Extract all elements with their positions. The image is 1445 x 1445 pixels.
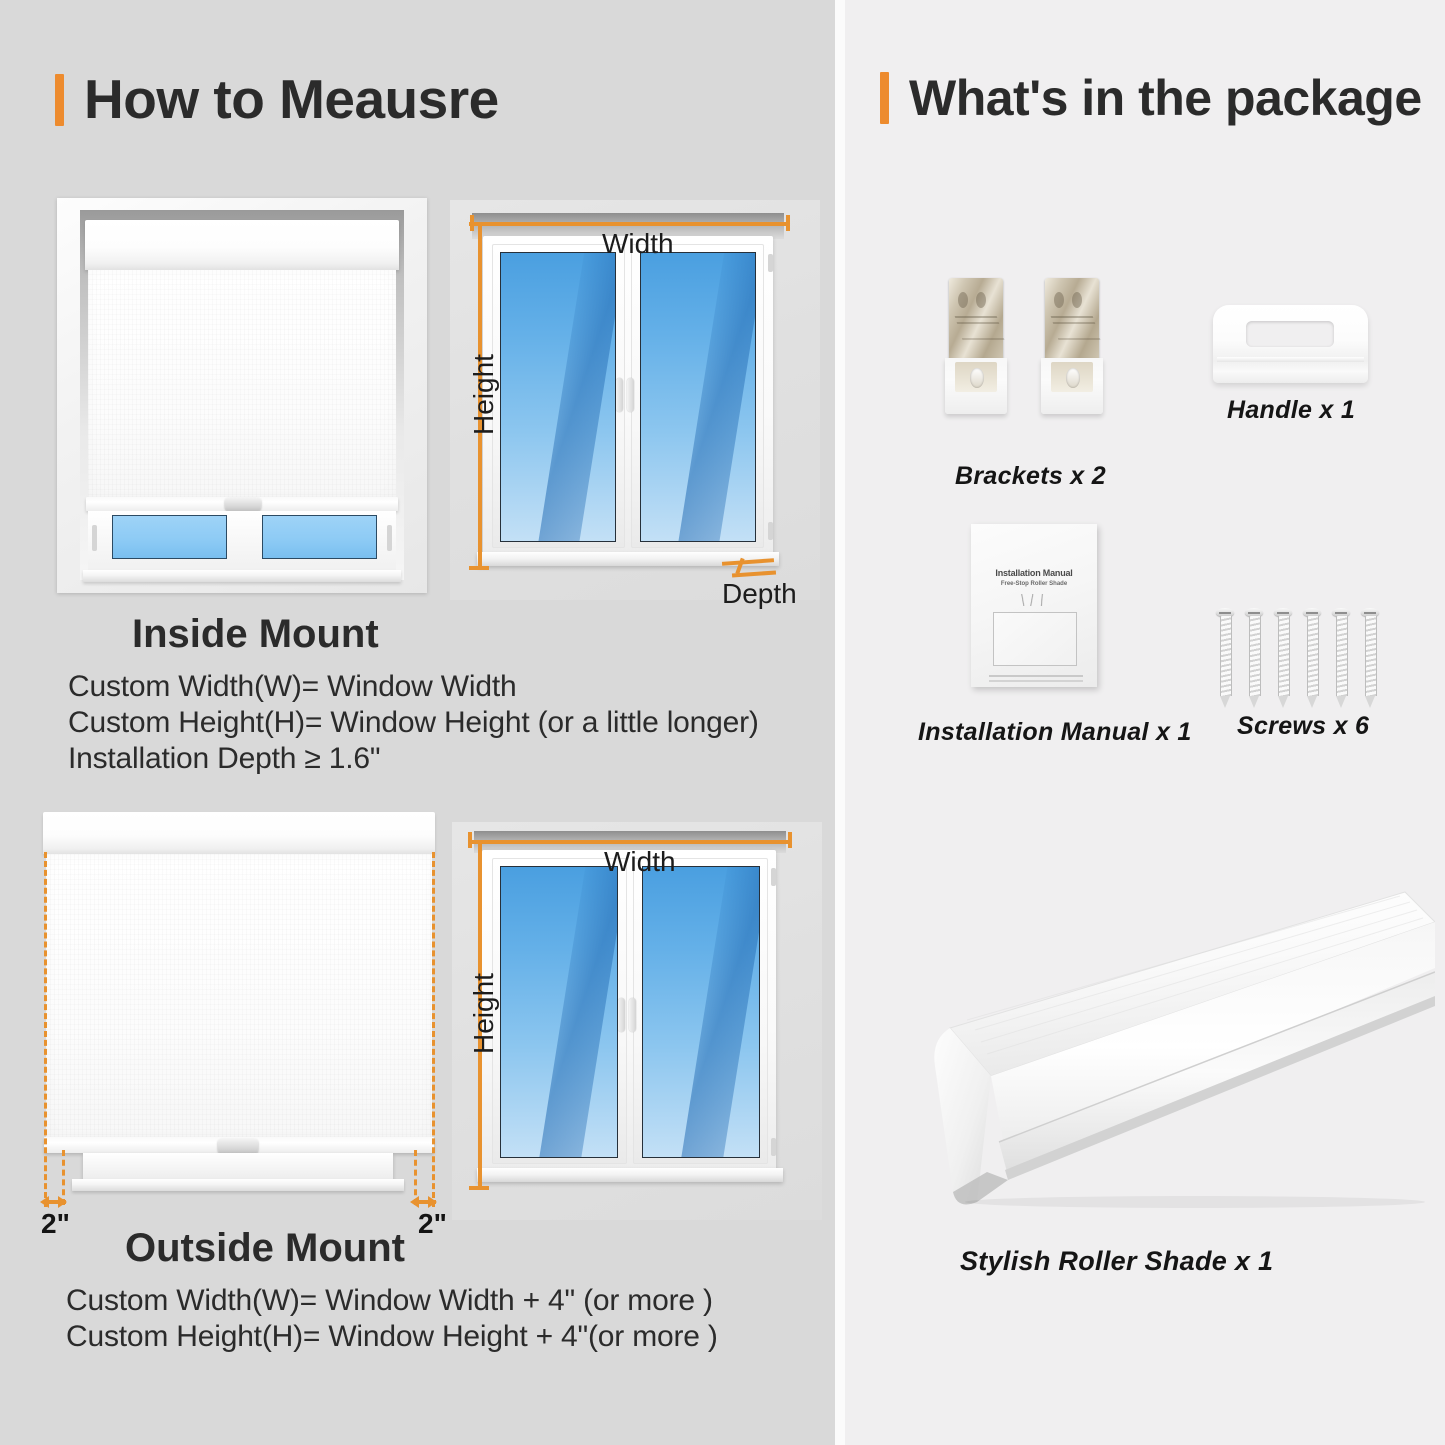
inside-mount-line-2: Custom Height(H)= Window Height (or a li… (68, 706, 759, 740)
screw-thread (1278, 616, 1290, 696)
manual-cover-footer (989, 675, 1083, 677)
bracket-screw-hole (970, 368, 984, 388)
inside-mount-line-3: Installation Depth ≥ 1.6" (68, 742, 380, 776)
sash-hinge-right (387, 525, 392, 551)
wall-anchor-icon (1331, 528, 1351, 592)
brackets-label: Brackets x 2 (955, 462, 1106, 491)
screw-icon (1303, 608, 1321, 708)
wall-anchor-icon (1360, 528, 1380, 592)
height-measure-tick-bottom (469, 566, 489, 570)
window-pane-left-2 (500, 866, 618, 1158)
width-measure-line (470, 222, 790, 226)
accent-bar-icon (55, 74, 64, 126)
outside-shade-cassette (43, 812, 435, 854)
overhang-guide-right (432, 852, 435, 1207)
shade-cassette (85, 220, 399, 270)
manual-cover-figure (993, 612, 1077, 666)
overhang-arrow-head-right (428, 1196, 437, 1208)
bracket-icon (945, 278, 1007, 414)
screw-tip (1220, 696, 1230, 708)
screw-tip (1278, 696, 1288, 708)
width-measure-tick-right (786, 215, 790, 231)
infographic-page: How to Meausre (0, 0, 1445, 1445)
roller-shade-svg (895, 880, 1435, 1210)
screw-tip (1249, 696, 1259, 708)
wall-anchor-icon (1273, 528, 1293, 592)
wall-anchor-icon (1244, 528, 1264, 592)
handle-lip (1217, 357, 1364, 362)
how-to-measure-title: How to Meausre (84, 72, 499, 127)
panel-divider (835, 0, 845, 1445)
outside-window-sill (72, 1179, 404, 1191)
outside-shade-fabric (46, 854, 432, 1140)
height-label-2: Height (468, 973, 500, 1054)
how-to-measure-panel: How to Meausre (0, 0, 835, 1445)
screws-label: Screws x 6 (1237, 712, 1369, 741)
screw-thread (1307, 616, 1319, 696)
outside-mount-line-1: Custom Width(W)= Window Width + 4" (or m… (66, 1284, 713, 1318)
screw-icon (1332, 608, 1350, 708)
manual-cover-scribble (1005, 594, 1063, 606)
overhang-label-right: 2" (418, 1208, 447, 1240)
overhang-guide-left (44, 852, 47, 1207)
height-measure-tick-top-2 (469, 840, 489, 844)
overhang-arrow-head-left-inner (58, 1196, 67, 1208)
diagram-window-sill-2 (477, 1168, 783, 1182)
width-label-2: Width (604, 846, 676, 878)
window-pane-left (500, 252, 616, 542)
roller-shade-label: Stylish Roller Shade x 1 (960, 1246, 1273, 1277)
window-sill (83, 570, 401, 582)
lower-glass-left (112, 515, 227, 559)
screw-tip (1307, 696, 1317, 708)
width-measure-line-2 (468, 840, 792, 844)
inside-mount-shade-illustration (57, 198, 427, 593)
screw-thread (1365, 616, 1377, 696)
outside-mount-window-diagram: Width Height (452, 822, 822, 1220)
width-measure-tick-right-2 (788, 832, 792, 848)
screw-icon (1245, 608, 1263, 708)
window-pane-right (640, 252, 756, 542)
how-to-measure-heading: How to Meausre (55, 72, 499, 127)
inside-mount-line-1: Custom Width(W)= Window Width (68, 670, 516, 704)
handle-label: Handle x 1 (1227, 396, 1355, 425)
height-measure-tick-top (469, 222, 489, 226)
window-handle-left (616, 378, 623, 412)
handle-grip-cutout (1246, 321, 1334, 347)
bracket-screw-hole (1066, 368, 1080, 388)
screw-thread (1249, 616, 1261, 696)
window-hinge-top-right (768, 254, 773, 272)
accent-bar-icon (880, 72, 889, 124)
screw-icon (1216, 608, 1234, 708)
installation-manual-label: Installation Manual x 1 (918, 718, 1192, 747)
screw-thread (1220, 616, 1232, 696)
whats-in-the-package-heading: What's in the package (880, 72, 1422, 124)
screw-thread (1336, 616, 1348, 696)
wall-anchor-icon (1302, 528, 1322, 592)
manual-cover-subtitle: Free-Stop Roller Shade (971, 581, 1097, 587)
bracket-icon (1041, 278, 1103, 414)
screw-tip (1336, 696, 1346, 708)
window-hinge-top-right-2 (771, 868, 776, 886)
overhang-label-left: 2" (41, 1208, 70, 1240)
roller-shade-icon (895, 880, 1435, 1210)
outside-mount-title: Outside Mount (125, 1226, 405, 1271)
screw-icon (1274, 608, 1292, 708)
sash-hinge-left (92, 525, 97, 551)
inside-mount-title: Inside Mount (132, 612, 379, 657)
manual-cover-title: Installation Manual (971, 568, 1097, 578)
outside-mount-line-2: Custom Height(H)= Window Height + 4"(or … (66, 1320, 718, 1354)
window-handle-right-2 (629, 998, 636, 1032)
shade-fabric (88, 270, 396, 500)
screw-icon (1361, 608, 1379, 708)
inside-mount-window-diagram: Width Height Depth (450, 200, 820, 600)
overhang-arrow-head-left (40, 1196, 49, 1208)
window-hinge-bottom-right (768, 522, 773, 540)
window-handle-left-2 (618, 998, 625, 1032)
handle-icon (1213, 305, 1368, 383)
window-handle-right (627, 378, 634, 412)
width-label: Width (602, 228, 674, 260)
whats-in-the-package-title: What's in the package (909, 73, 1422, 123)
window-pane-right-2 (642, 866, 760, 1158)
wall-anchor-icon (1215, 528, 1235, 592)
manual-icon: Installation Manual Free-Stop Roller Sha… (971, 524, 1097, 687)
height-measure-tick-bottom-2 (469, 1186, 489, 1190)
window-hinge-bottom-right-2 (771, 1138, 776, 1156)
screw-tip (1365, 696, 1375, 708)
shade-pull-tab (225, 498, 261, 512)
height-label: Height (468, 354, 500, 435)
outside-mount-shade-illustration (38, 812, 438, 1192)
lower-glass-right (262, 515, 377, 559)
whats-in-the-package-panel: What's in the package Brackets x 2 Handl… (845, 0, 1445, 1445)
depth-label: Depth (722, 578, 797, 610)
overhang-arrow-head-right-inner (410, 1196, 419, 1208)
